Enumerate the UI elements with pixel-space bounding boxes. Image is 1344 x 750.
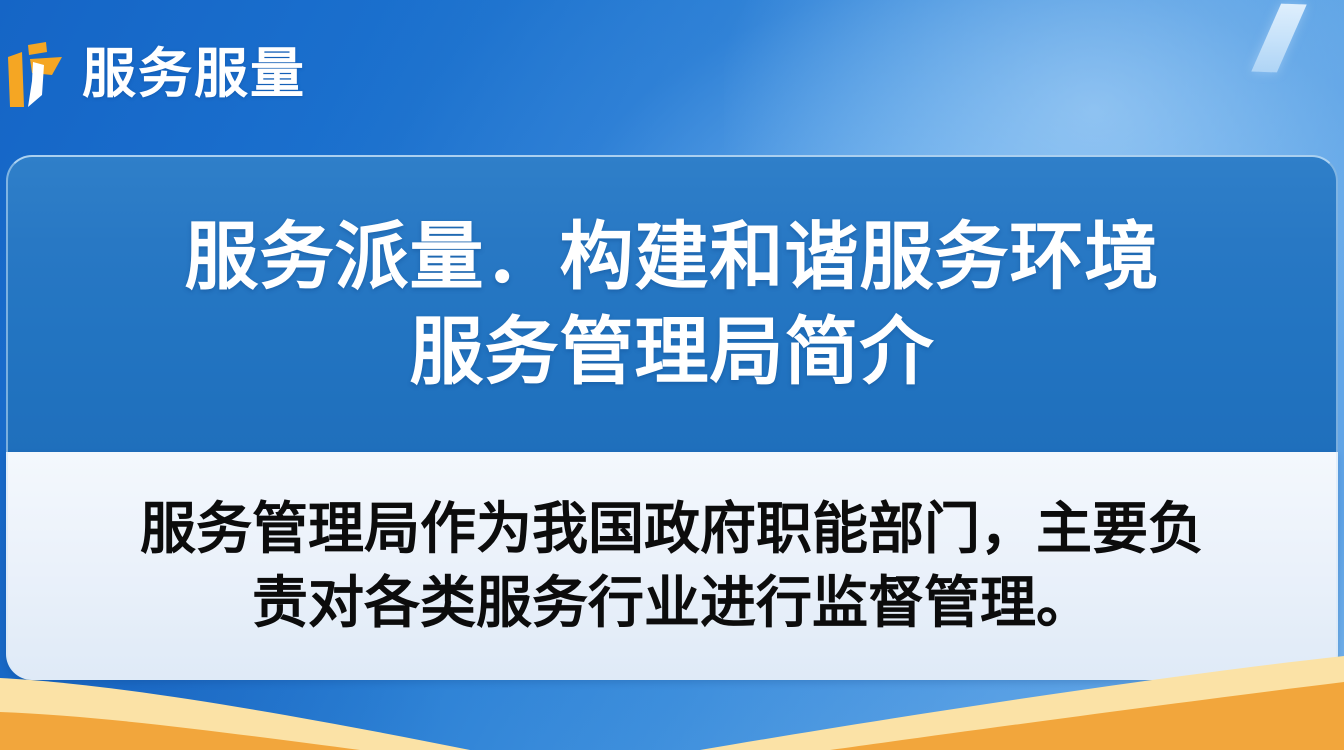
header: 服务服量 (0, 32, 306, 116)
body-text-line-2: 责对各类服务行业进行监督管理。 (252, 566, 1092, 640)
body-card: 服务管理局作为我国政府职能部门，主要负 责对各类服务行业进行监督管理。 (6, 452, 1338, 680)
page-title-line-1: 服务派量．构建和谐服务环境 (185, 210, 1160, 305)
logo-text: 服务服量 (82, 47, 306, 101)
brand-mark-icon (6, 35, 68, 113)
slide-root: 服务服量 服务派量．构建和谐服务环境 服务管理局简介 服务管理局作为我国政府职能… (0, 0, 1344, 750)
title-card: 服务派量．构建和谐服务环境 服务管理局简介 (6, 155, 1338, 452)
body-text-line-1: 服务管理局作为我国政府职能部门，主要负 (140, 492, 1204, 566)
page-title-line-2: 服务管理局简介 (410, 305, 935, 400)
